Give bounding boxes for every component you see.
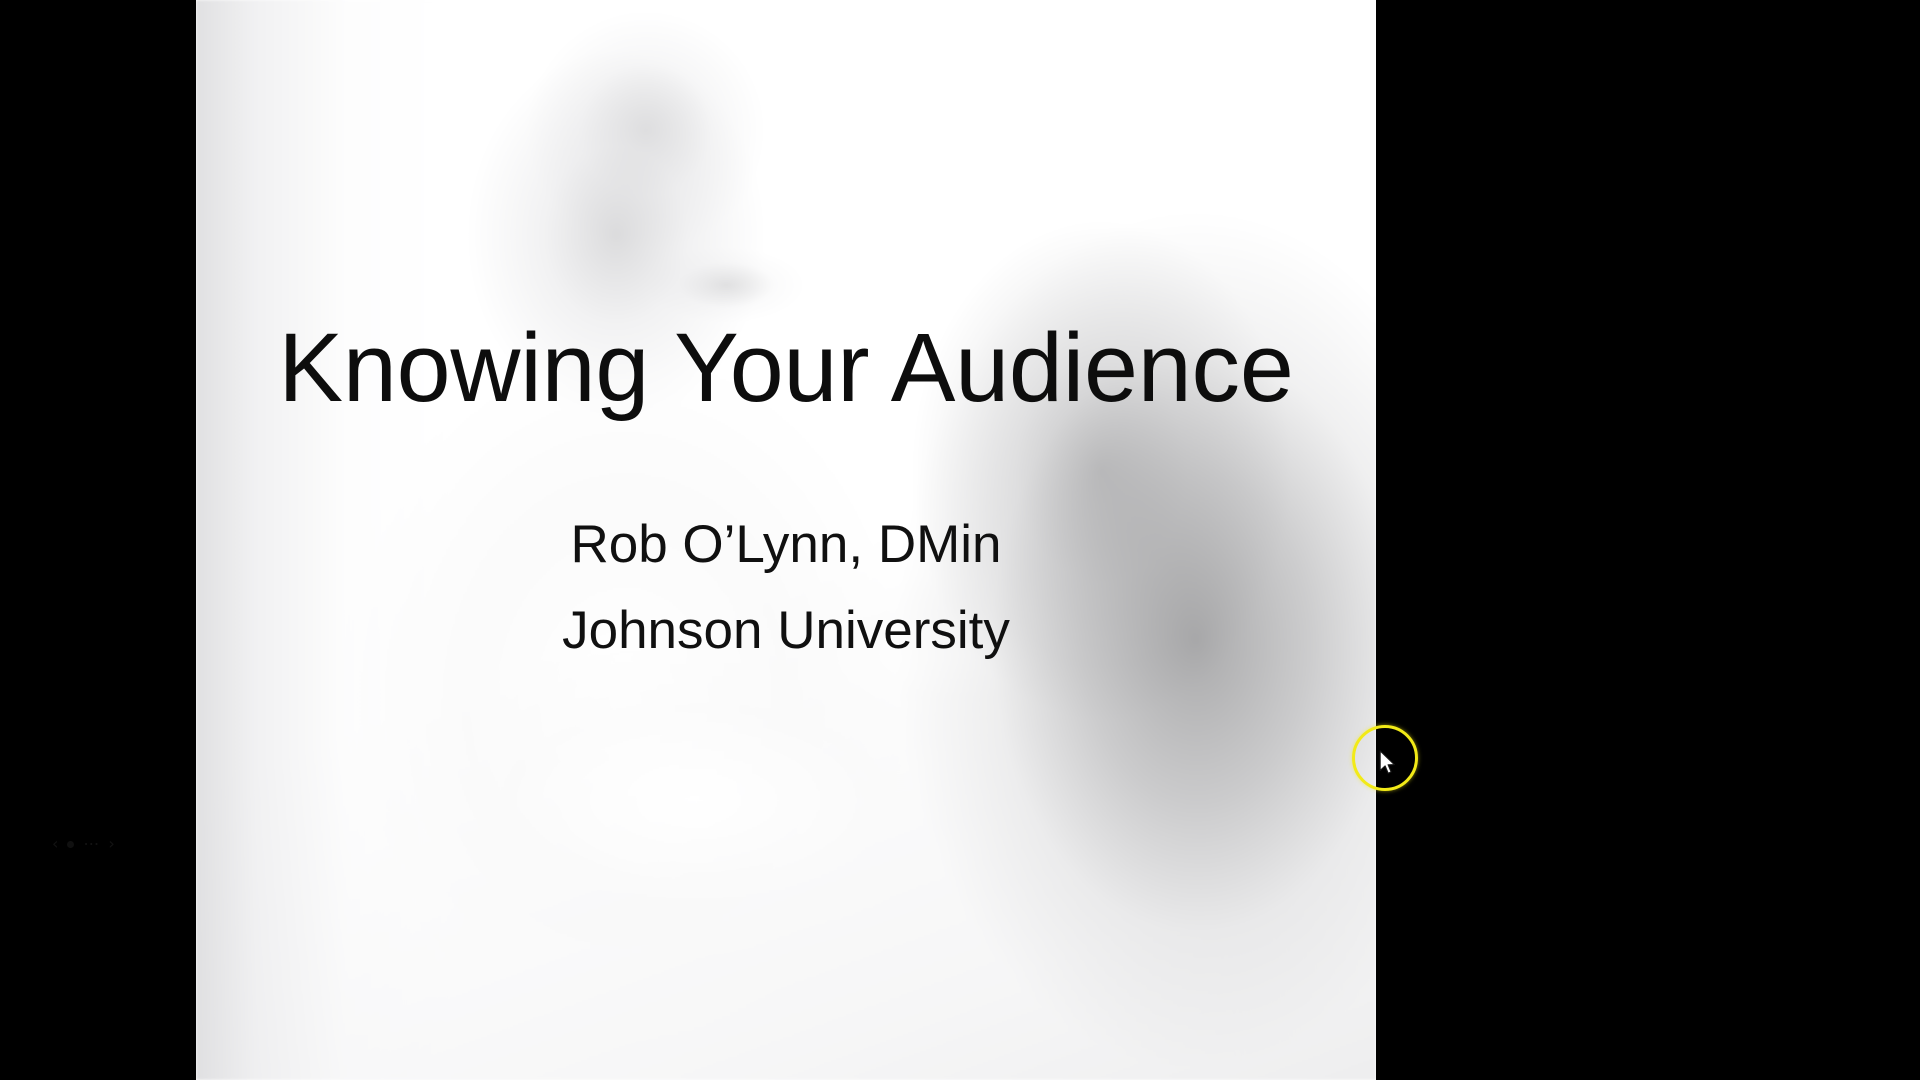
presentation-shell: Knowing Your Audience Rob O’Lynn, DMin J… — [0, 0, 1920, 1080]
presenter-controls-toolbar[interactable]: ‹ ⋯ › — [52, 836, 115, 852]
slide-subtitle-author: Rob O’Lynn, DMin — [196, 502, 1376, 588]
previous-slide-icon[interactable]: ‹ — [52, 836, 58, 852]
slide-canvas[interactable]: Knowing Your Audience Rob O’Lynn, DMin J… — [196, 0, 1376, 1080]
slide-title: Knowing Your Audience — [196, 316, 1376, 421]
next-slide-icon[interactable]: › — [108, 836, 114, 852]
letterbox-bar-left — [0, 0, 196, 1080]
letterbox-bar-right — [1376, 0, 1920, 1080]
slide-subtitle-block: Rob O’Lynn, DMin Johnson University — [196, 502, 1376, 674]
slide-subtitle-institution: Johnson University — [196, 588, 1376, 674]
pen-tool-icon[interactable] — [67, 841, 74, 848]
more-options-icon[interactable]: ⋯ — [83, 836, 99, 852]
slide-text-block: Knowing Your Audience Rob O’Lynn, DMin J… — [196, 0, 1376, 1080]
